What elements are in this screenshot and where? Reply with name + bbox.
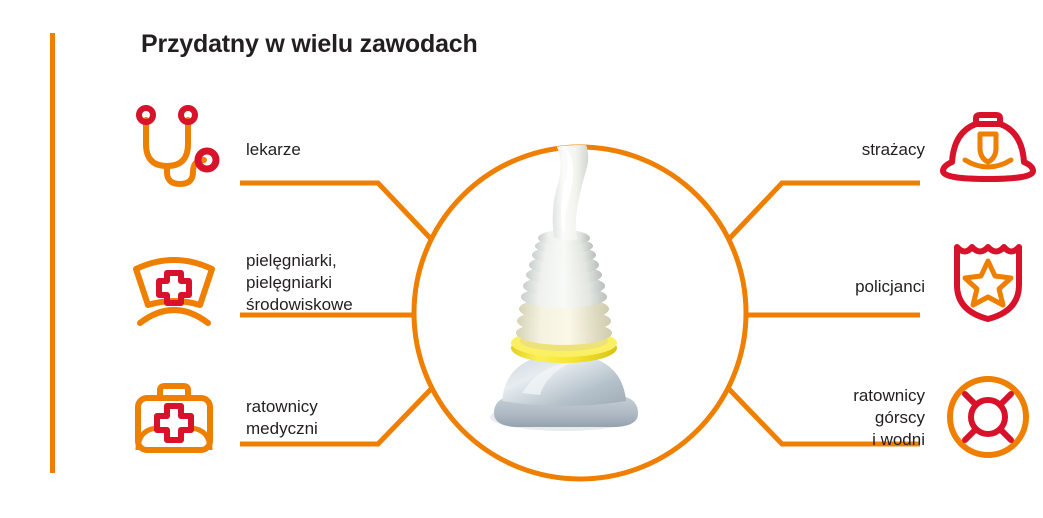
list-item-ratownicy-medyczni: ratownicy medyczni [120,370,410,466]
list-item-ratownicy-gorscy: ratownicy górscy i wodni [640,370,1040,466]
label-line-2: pielęgniarki [246,273,332,292]
medical-bag-icon [126,374,222,464]
list-item-label: policjanci [855,276,925,298]
list-item-label: pielęgniarki, pielęgniarki środowiskowe [246,250,353,316]
accent-bar [50,33,55,473]
page-title: Przydatny w wielu zawodach [141,30,478,59]
label-line-1: ratownicy [246,397,318,416]
label-line-2: górscy [875,408,925,427]
list-item-lekarze: lekarze [120,100,410,196]
list-item-label: lekarze [246,139,301,161]
infographic-root: Przydatny w wielu zawodach [0,0,1043,518]
list-item-label: ratownicy górscy i wodni [853,385,925,451]
list-item-policjanci: policjanci [640,235,1040,331]
stethoscope-icon [126,100,222,190]
label-line-1: pielęgniarki, [246,251,337,270]
nurse-cap-icon [126,243,222,333]
label-line-3: środowiskowe [246,295,353,314]
list-item-strazacy: strażacy [640,100,1040,196]
list-item-label: ratownicy medyczni [246,396,318,440]
firefighter-helmet-icon [940,106,1036,196]
life-ring-icon [940,372,1036,462]
label-line-1: ratownicy [853,386,925,405]
police-badge-icon [940,235,1036,325]
list-item-pielegniarki: pielęgniarki, pielęgniarki środowiskowe [120,235,410,331]
list-item-label: strażacy [862,139,925,161]
label-line-3: i wodni [872,430,925,449]
label-line-2: medyczni [246,419,318,438]
